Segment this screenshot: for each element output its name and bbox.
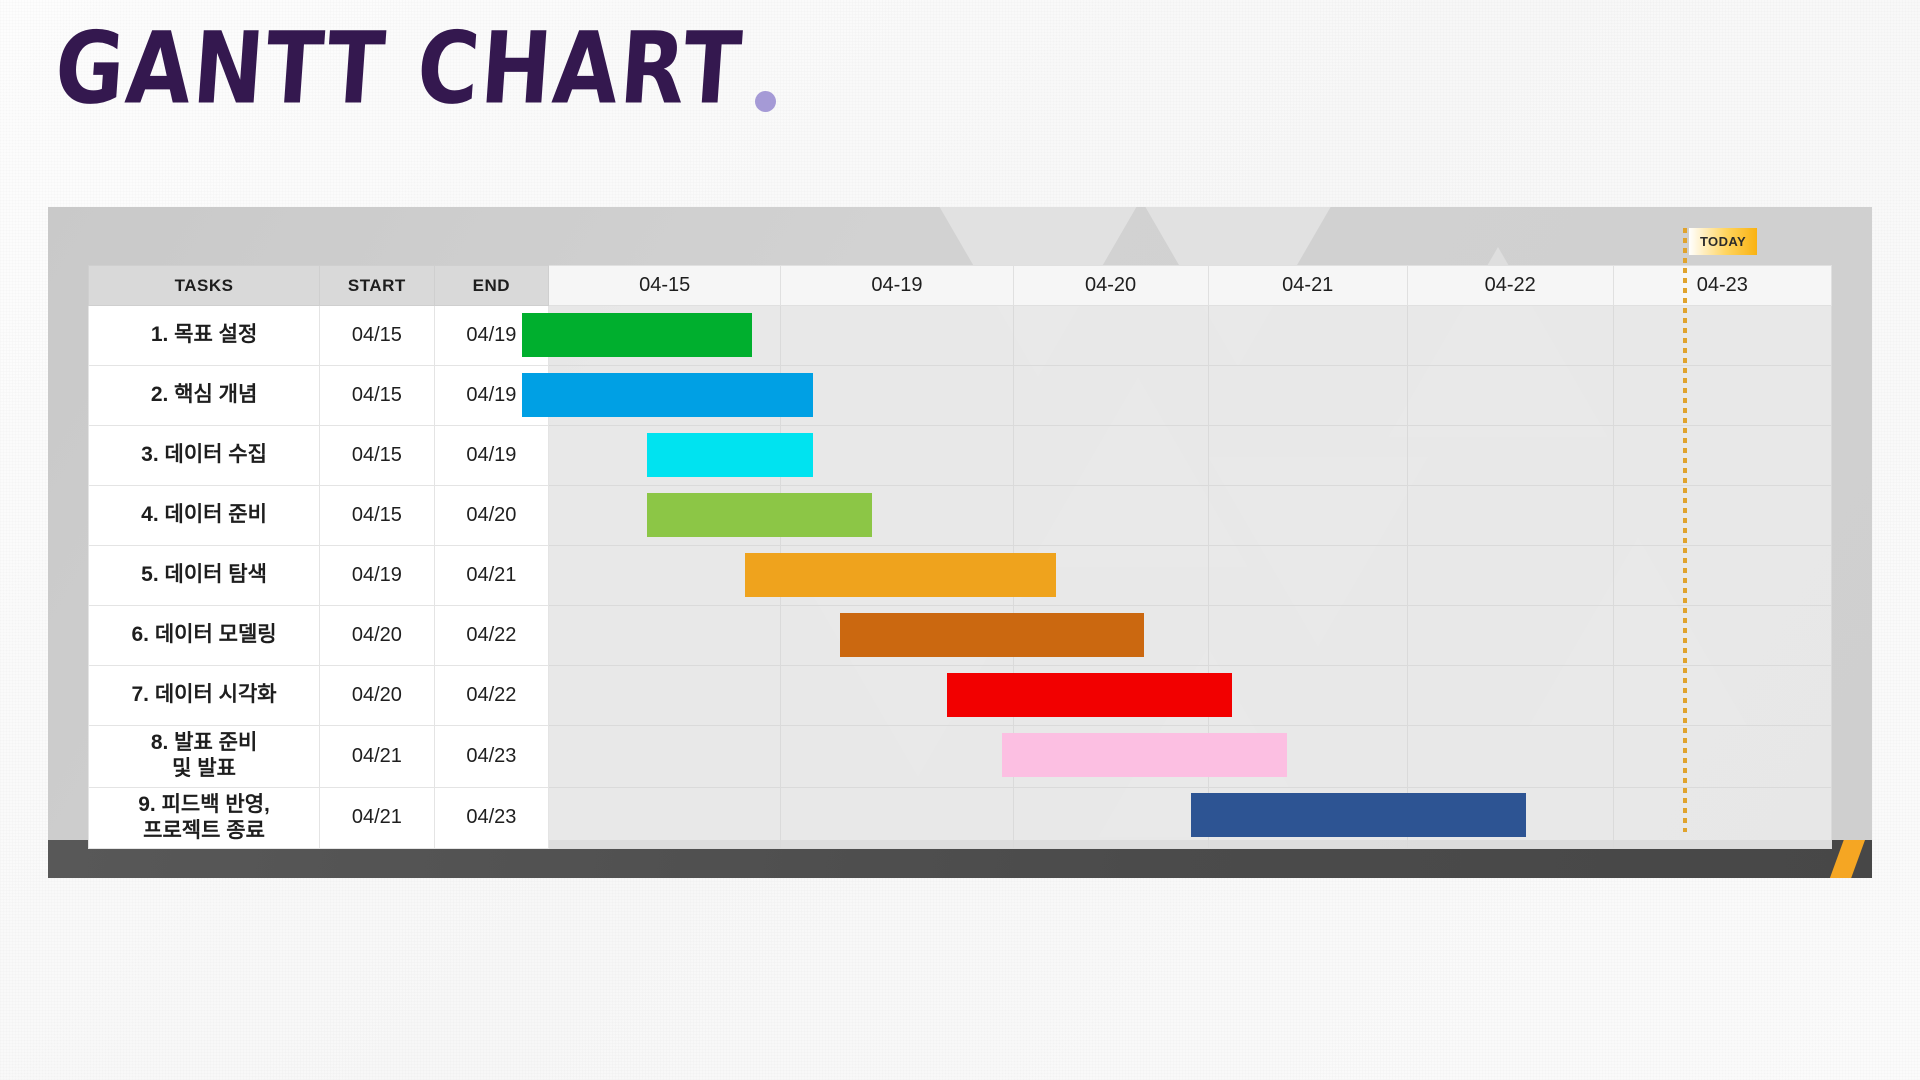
column-header-date-5[interactable]: 04-23: [1613, 266, 1831, 306]
gantt-bar[interactable]: [647, 493, 873, 537]
table-header: TASKS START END 04-15 04-19 04-20 04-21 …: [89, 266, 1832, 306]
gantt-grid-cell[interactable]: [1013, 787, 1208, 849]
table-row: 3. 데이터 수집04/1504/19: [89, 426, 1832, 486]
table-header-row: TASKS START END 04-15 04-19 04-20 04-21 …: [89, 266, 1832, 306]
gantt-grid-cell[interactable]: [1407, 306, 1613, 366]
gantt-bar[interactable]: [1191, 793, 1526, 837]
gantt-grid-cell[interactable]: [1407, 606, 1613, 666]
gantt-grid-cell[interactable]: [1613, 546, 1831, 606]
gantt-grid-cell[interactable]: [781, 787, 1013, 849]
gantt-grid-cell[interactable]: [1613, 426, 1831, 486]
gantt-grid-cell[interactable]: [1407, 426, 1613, 486]
column-header-date-2[interactable]: 04-20: [1013, 266, 1208, 306]
column-header-date-4[interactable]: 04-22: [1407, 266, 1613, 306]
end-date-cell[interactable]: 04/22: [434, 666, 549, 726]
gantt-bar[interactable]: [745, 553, 1055, 597]
gantt-grid-cell[interactable]: [1013, 306, 1208, 366]
task-name-line1: 7. 데이터 시각화: [95, 682, 313, 708]
gantt-grid-cell[interactable]: [781, 426, 1013, 486]
today-badge[interactable]: TODAY: [1689, 228, 1757, 255]
task-name-line1: 1. 목표 설정: [95, 322, 313, 348]
gantt-grid-cell[interactable]: [1013, 366, 1208, 426]
task-name-line1: 2. 핵심 개념: [95, 382, 313, 408]
gantt-grid-cell[interactable]: [1208, 366, 1407, 426]
start-date-cell[interactable]: 04/21: [320, 787, 435, 849]
gantt-grid-cell[interactable]: [1013, 486, 1208, 546]
task-name-cell[interactable]: 6. 데이터 모델링: [89, 606, 320, 666]
gantt-bar[interactable]: [522, 373, 813, 417]
gantt-grid-cell[interactable]: [1208, 606, 1407, 666]
column-header-date-0[interactable]: 04-15: [549, 266, 781, 306]
gantt-grid-cell[interactable]: [1208, 546, 1407, 606]
end-date-cell[interactable]: 04/20: [434, 486, 549, 546]
gantt-bar[interactable]: [522, 313, 752, 357]
task-name-cell[interactable]: 3. 데이터 수집: [89, 426, 320, 486]
gantt-grid-cell[interactable]: [1613, 306, 1831, 366]
task-name-line2: 프로젝트 종료: [95, 818, 313, 844]
gantt-grid-cell[interactable]: [1407, 486, 1613, 546]
gantt-grid-cell[interactable]: [1208, 306, 1407, 366]
today-marker-line: [1683, 228, 1687, 832]
gantt-grid-cell[interactable]: [1613, 726, 1831, 788]
table-row: 2. 핵심 개념04/1504/19: [89, 366, 1832, 426]
gantt-grid-cell[interactable]: [1208, 666, 1407, 726]
gantt-grid-cell[interactable]: [549, 726, 781, 788]
table-row: 9. 피드백 반영,프로젝트 종료04/2104/23: [89, 787, 1832, 849]
column-header-date-1[interactable]: 04-19: [781, 266, 1013, 306]
gantt-grid-cell[interactable]: [1407, 666, 1613, 726]
gantt-grid-cell[interactable]: [549, 666, 781, 726]
gantt-grid-cell[interactable]: [1613, 486, 1831, 546]
task-name-cell[interactable]: 7. 데이터 시각화: [89, 666, 320, 726]
task-name-cell[interactable]: 2. 핵심 개념: [89, 366, 320, 426]
gantt-grid-cell[interactable]: [1613, 666, 1831, 726]
start-date-cell[interactable]: 04/15: [320, 306, 435, 366]
gantt-grid-cell[interactable]: [549, 787, 781, 849]
title-block: GANTT CHART: [52, 34, 776, 118]
gantt-grid-cell[interactable]: [1407, 366, 1613, 426]
task-name-line2: 및 발표: [95, 756, 313, 782]
end-date-cell[interactable]: 04/22: [434, 606, 549, 666]
gantt-bar[interactable]: [1002, 733, 1287, 777]
gantt-grid-cell[interactable]: [1208, 426, 1407, 486]
task-name-line1: 5. 데이터 탐색: [95, 562, 313, 588]
gantt-grid-cell[interactable]: [781, 726, 1013, 788]
gantt-grid-cell[interactable]: [1613, 787, 1831, 849]
gantt-grid-cell[interactable]: [1613, 606, 1831, 666]
end-date-cell[interactable]: 04/19: [434, 426, 549, 486]
task-name-cell[interactable]: 5. 데이터 탐색: [89, 546, 320, 606]
start-date-cell[interactable]: 04/21: [320, 726, 435, 788]
gantt-grid-cell[interactable]: [549, 606, 781, 666]
column-header-date-3[interactable]: 04-21: [1208, 266, 1407, 306]
table-row: 1. 목표 설정04/1504/19: [89, 306, 1832, 366]
task-name-cell[interactable]: 4. 데이터 준비: [89, 486, 320, 546]
start-date-cell[interactable]: 04/15: [320, 366, 435, 426]
task-name-line1: 4. 데이터 준비: [95, 502, 313, 528]
start-date-cell[interactable]: 04/15: [320, 486, 435, 546]
gantt-bar[interactable]: [947, 673, 1233, 717]
column-header-end[interactable]: END: [434, 266, 549, 306]
gantt-grid-cell[interactable]: [1013, 426, 1208, 486]
start-date-cell[interactable]: 04/20: [320, 606, 435, 666]
task-name-cell[interactable]: 9. 피드백 반영,프로젝트 종료: [89, 787, 320, 849]
task-name-line1: 3. 데이터 수집: [95, 442, 313, 468]
task-name-cell[interactable]: 8. 발표 준비및 발표: [89, 726, 320, 788]
gantt-grid-cell[interactable]: [1208, 486, 1407, 546]
start-date-cell[interactable]: 04/15: [320, 426, 435, 486]
page-title: GANTT CHART: [52, 19, 746, 118]
table-row: 4. 데이터 준비04/1504/20: [89, 486, 1832, 546]
task-name-line1: 6. 데이터 모델링: [95, 622, 313, 648]
gantt-grid-cell[interactable]: [1613, 366, 1831, 426]
column-header-tasks[interactable]: TASKS: [89, 266, 320, 306]
gantt-grid-cell[interactable]: [781, 366, 1013, 426]
column-header-start[interactable]: START: [320, 266, 435, 306]
end-date-cell[interactable]: 04/21: [434, 546, 549, 606]
title-dot-decoration: [755, 91, 776, 112]
end-date-cell[interactable]: 04/23: [434, 787, 549, 849]
table-row: 8. 발표 준비및 발표04/2104/23: [89, 726, 1832, 788]
task-name-line1: 8. 발표 준비: [95, 730, 313, 756]
end-date-cell[interactable]: 04/23: [434, 726, 549, 788]
start-date-cell[interactable]: 04/19: [320, 546, 435, 606]
start-date-cell[interactable]: 04/20: [320, 666, 435, 726]
gantt-grid-cell[interactable]: [781, 306, 1013, 366]
gantt-grid-cell[interactable]: [1407, 546, 1613, 606]
gantt-bar[interactable]: [647, 433, 813, 477]
task-name-cell[interactable]: 1. 목표 설정: [89, 306, 320, 366]
gantt-bar[interactable]: [840, 613, 1144, 657]
task-name-line1: 9. 피드백 반영,: [95, 792, 313, 818]
gantt-grid-cell[interactable]: [1407, 726, 1613, 788]
